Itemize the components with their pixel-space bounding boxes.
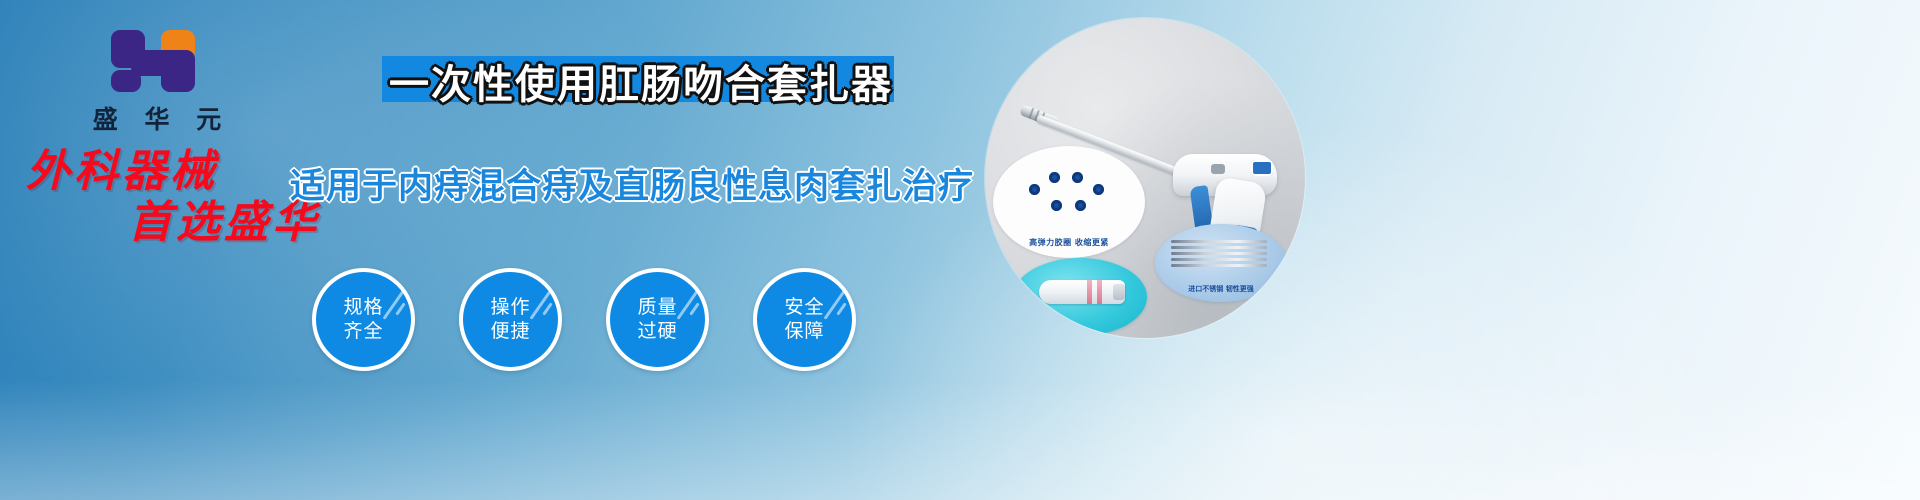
gloss-highlight-small-icon — [395, 302, 405, 315]
gloss-highlight-small-icon — [836, 302, 846, 315]
background-bottom-fade — [0, 380, 1920, 500]
inset-ligator-head — [1013, 258, 1147, 336]
device-port — [1211, 164, 1225, 174]
feature-badge-quality[interactable]: 质量 过硬 — [606, 268, 709, 371]
feature-badge-line-2: 保障 — [784, 320, 824, 344]
logo-block-right-bottom — [161, 50, 195, 92]
brand-logo-icon — [109, 28, 205, 94]
inset-ligation-needles: 进口不锈钢 韧性更强 — [1155, 224, 1287, 302]
feature-badge-line-1: 安全 — [784, 296, 824, 320]
gloss-highlight-small-icon — [542, 302, 552, 315]
feature-badge-list: 规格 齐全 操作 便捷 质量 过硬 安全 保障 — [312, 268, 856, 371]
feature-badge-line-1: 操作 — [490, 296, 530, 320]
page-title: 一次性使用肛肠吻合套扎器 — [336, 52, 946, 110]
product-banner: 盛 华 元 外科器械 首选盛华 一次性使用肛肠吻合套扎器 适用于内痔混合痔及直肠… — [0, 0, 1920, 500]
feature-badge-line-2: 过硬 — [637, 320, 677, 344]
feature-badge-safety[interactable]: 安全 保障 — [753, 268, 856, 371]
brand-name-text: 盛 华 元 — [62, 100, 252, 136]
inset-caption-needles: 进口不锈钢 韧性更强 — [1155, 284, 1287, 294]
feature-badge-line-2: 便捷 — [490, 320, 530, 344]
inset-elastic-bands: 高弹力胶圈 收缩更紧 — [993, 146, 1145, 258]
feature-badge-line-1: 质量 — [637, 296, 677, 320]
device-button — [1251, 160, 1273, 176]
product-photo[interactable]: 高弹力胶圈 收缩更紧 进口不锈钢 韧性更强 — [985, 18, 1305, 338]
feature-badge-specifications[interactable]: 规格 齐全 — [312, 268, 415, 371]
subtitle-text: 适用于内痔混合痔及直肠良性息肉套扎治疗 — [290, 158, 900, 209]
ligator-head-icon — [1039, 280, 1125, 304]
logo-block-bottom-left — [111, 70, 141, 92]
elastic-bands-dots-icon — [1027, 170, 1111, 216]
brand-logo-block[interactable]: 盛 华 元 — [62, 28, 252, 136]
feature-badge-operation[interactable]: 操作 便捷 — [459, 268, 562, 371]
gloss-highlight-small-icon — [689, 302, 699, 315]
ligation-needles-icon — [1171, 240, 1271, 268]
feature-badge-line-2: 齐全 — [343, 320, 383, 344]
inset-caption-elastic-bands: 高弹力胶圈 收缩更紧 — [993, 237, 1145, 248]
feature-badge-line-1: 规格 — [343, 296, 383, 320]
